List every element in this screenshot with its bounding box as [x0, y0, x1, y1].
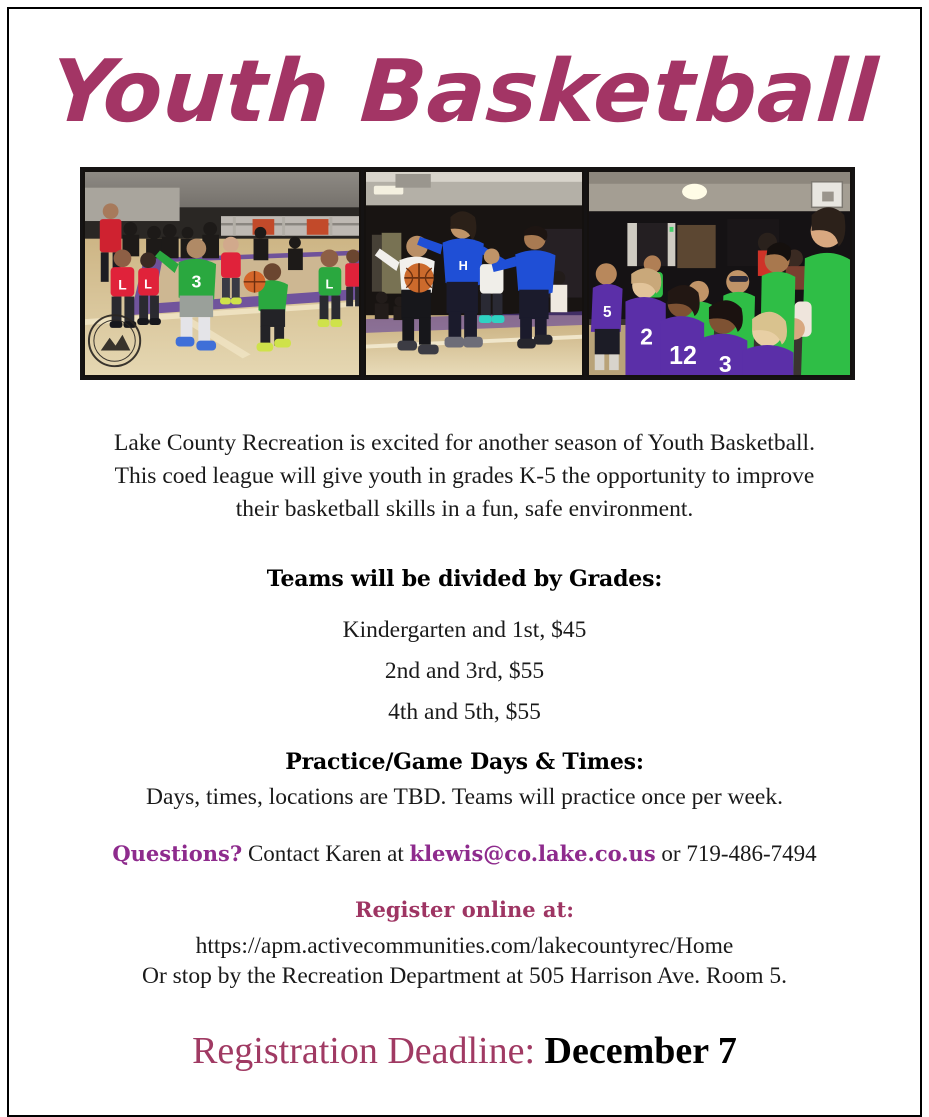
register-url[interactable]: https://apm.activecommunities.com/lakeco…: [9, 931, 920, 961]
contact-email-link[interactable]: klewis@co.lake.co.us: [410, 841, 656, 866]
register-walkin-line: Or stop by the Recreation Department at …: [9, 961, 920, 991]
svg-text:3: 3: [191, 272, 201, 292]
intro-line-3: their basketball skills in a fun, safe e…: [9, 493, 920, 526]
photo-game-action-red-green: L L: [83, 170, 361, 377]
svg-text:L: L: [144, 277, 152, 292]
practice-section: Practice/Game Days & Times: Days, times,…: [9, 749, 920, 812]
registration-deadline: Registration Deadline: December 7: [9, 1027, 920, 1075]
svg-text:L: L: [118, 278, 126, 293]
contact-after-email: or 719-486-7494: [656, 841, 817, 866]
svg-text:L: L: [326, 277, 334, 292]
flyer-page-inner: Youth Basketball: [9, 9, 920, 1115]
intro-paragraph: Lake County Recreation is excited for an…: [9, 427, 920, 526]
svg-text:H: H: [459, 258, 468, 273]
grade-line: 2nd and 3rd, $55: [9, 651, 920, 692]
grades-section: Teams will be divided by Grades: Kinderg…: [9, 566, 920, 733]
grade-line: 4th and 5th, $55: [9, 692, 920, 733]
grade-line: Kindergarten and 1st, $45: [9, 610, 920, 651]
flyer-page: Youth Basketball: [7, 7, 922, 1117]
register-section: Register online at: https://apm.activeco…: [9, 897, 920, 991]
photo-strip: L L: [80, 167, 855, 380]
contact-before-email: Contact Karen at: [242, 841, 409, 866]
deadline-label: Registration Deadline:: [192, 1030, 535, 1072]
page-title: Youth Basketball: [6, 47, 923, 137]
deadline-date: December 7: [535, 1030, 737, 1072]
svg-text:12: 12: [669, 342, 697, 370]
register-heading: Register online at:: [9, 897, 920, 922]
practice-detail: Days, times, locations are TBD. Teams wi…: [9, 782, 920, 812]
photo-players-blue-jerseys: H: [364, 170, 584, 377]
svg-text:3: 3: [719, 351, 732, 375]
questions-label: Questions?: [112, 841, 242, 866]
intro-line-2: This coed league will give youth in grad…: [9, 460, 920, 493]
grades-heading: Teams will be divided by Grades:: [9, 566, 920, 592]
practice-heading: Practice/Game Days & Times:: [9, 749, 920, 775]
intro-line-1: Lake County Recreation is excited for an…: [9, 427, 920, 460]
contact-line: Questions? Contact Karen at klewis@co.la…: [9, 839, 920, 869]
svg-text:2: 2: [640, 323, 653, 349]
photo-handshake-line-purple-green: 5 2 12: [587, 170, 852, 377]
svg-text:5: 5: [603, 304, 612, 321]
